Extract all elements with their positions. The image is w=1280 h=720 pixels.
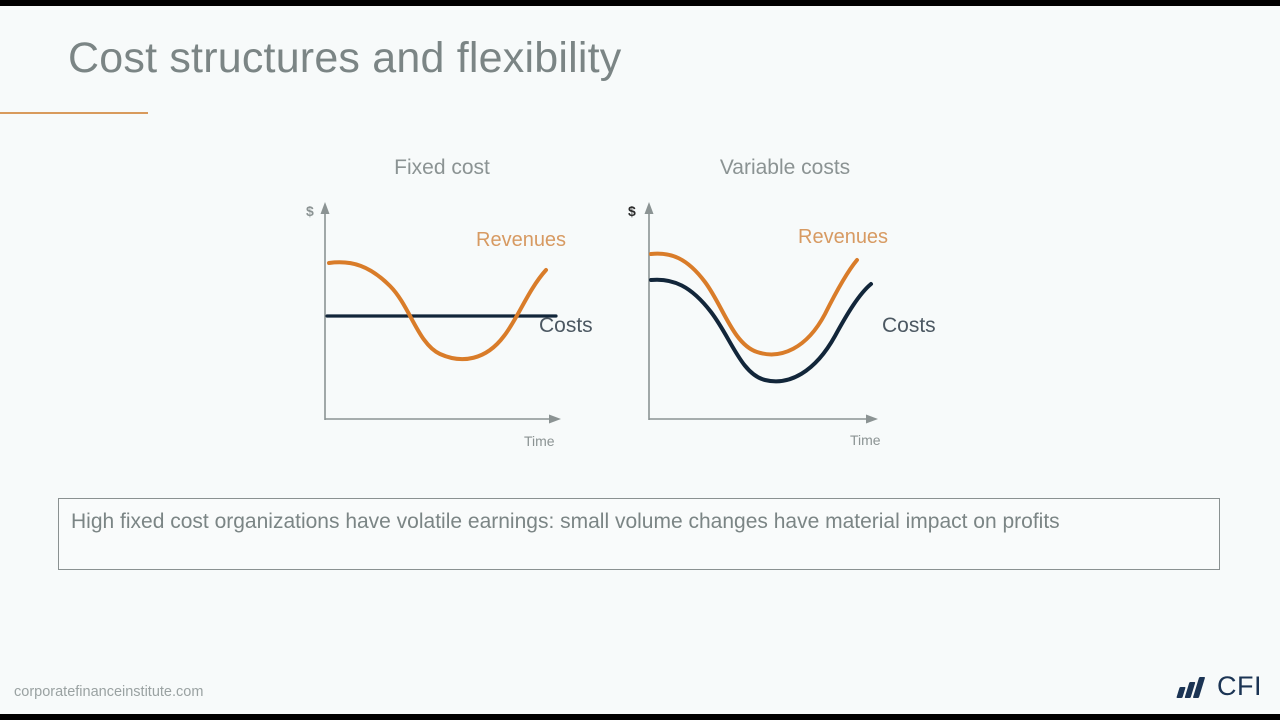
chart-variable-costs: Variable costs $ Time Revenues Costs [615,156,955,456]
slide: Cost structures and flexibility Fixed co… [0,6,1280,714]
y-axis-label-dollar: $ [306,203,314,219]
x-axis-arrowhead [866,415,878,424]
charts-container: Fixed cost $ Time Revenues Costs Variabl… [0,6,1280,714]
chart-svg-variable-costs [615,156,955,456]
series-label-revenues: Revenues [476,229,566,252]
series-line-revenues [651,254,857,355]
series-line-revenues [329,262,546,359]
callout-box: High fixed cost organizations have volat… [58,498,1220,570]
y-axis-arrowhead [321,202,330,214]
footer-website-url: corporatefinanceinstitute.com [14,684,203,700]
series-label-revenues: Revenues [798,226,888,249]
x-axis-label-time: Time [850,432,881,448]
y-axis-arrowhead [645,202,654,214]
series-label-costs: Costs [539,314,593,338]
cfi-logo: CFI [1177,673,1262,700]
letterbox-bottom [0,714,1280,720]
y-axis-label-dollar: $ [628,203,636,219]
cfi-logo-mark-icon [1177,676,1211,698]
chart-fixed-cost: Fixed cost $ Time Revenues Costs [290,156,610,456]
letterbox-top [0,0,1280,6]
callout-text: High fixed cost organizations have volat… [71,508,1191,535]
x-axis-label-time: Time [524,433,555,449]
x-axis-arrowhead [549,415,561,424]
chart-svg-fixed-cost [290,156,610,456]
cfi-logo-text: CFI [1217,673,1262,700]
series-label-costs: Costs [882,314,936,338]
series-line-costs [651,280,871,382]
